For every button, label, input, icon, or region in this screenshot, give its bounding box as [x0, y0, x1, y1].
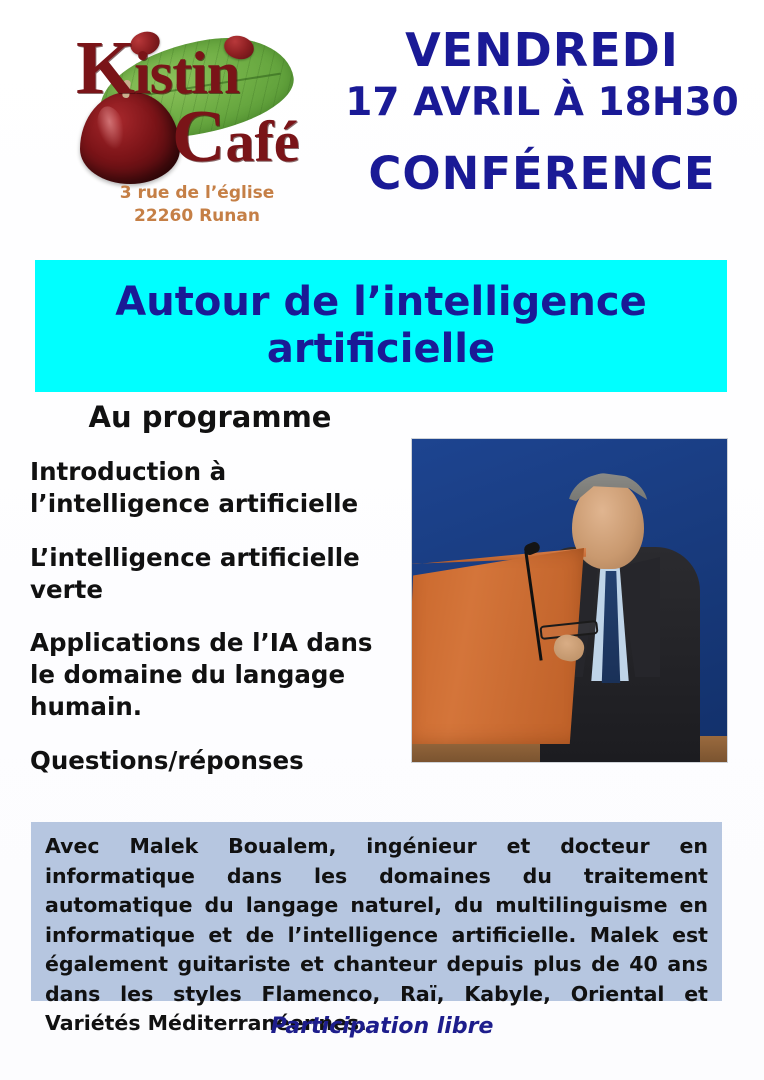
- program-item: Questions/réponses: [30, 745, 390, 777]
- program-item: L’intelligence artificielle verte: [30, 542, 390, 606]
- logo-artwork: Kistin Café: [72, 22, 322, 182]
- participation-note: Participation libre: [0, 1014, 764, 1039]
- event-type: CONFÉRENCE: [330, 149, 754, 199]
- program-item: Applications de l’IA dans le domaine du …: [30, 627, 390, 723]
- poster-header: Kistin Café 3 rue de l’église 22260 Runa…: [0, 0, 764, 252]
- chestnut-sheen: [93, 104, 129, 153]
- address-line-1: 3 rue de l’église: [72, 182, 322, 205]
- conference-title-line-1: Autour de l’intelligence: [115, 279, 646, 326]
- event-day: VENDREDI: [330, 26, 754, 74]
- event-poster: Kistin Café 3 rue de l’église 22260 Runa…: [0, 0, 764, 1080]
- program-heading: Au programme: [30, 400, 390, 434]
- conference-title-banner: Autour de l’intelligence artificielle: [35, 260, 727, 392]
- poster-footer: Participation libre: [0, 1014, 764, 1039]
- program-section: Au programme Introduction à l’intelligen…: [30, 400, 390, 799]
- program-item: Introduction à l’intelligence artificiel…: [30, 456, 390, 520]
- kistin-cafe-logo: Kistin Café 3 rue de l’église 22260 Runa…: [72, 22, 322, 247]
- speaker-description-box: Avec Malek Boualem, ingénieur et docteur…: [31, 822, 722, 1001]
- address-line-2: 22260 Runan: [72, 205, 322, 228]
- event-date-heading: VENDREDI 17 AVRIL À 18H30 CONFÉRENCE: [330, 26, 754, 198]
- speaker-photo: [411, 438, 728, 763]
- event-date-time: 17 AVRIL À 18H30: [330, 78, 754, 129]
- speaker-description-text: Avec Malek Boualem, ingénieur et docteur…: [45, 832, 708, 1039]
- conference-title-line-2: artificielle: [115, 326, 646, 373]
- venue-address: 3 rue de l’église 22260 Runan: [72, 182, 322, 228]
- conference-title: Autour de l’intelligence artificielle: [97, 279, 664, 373]
